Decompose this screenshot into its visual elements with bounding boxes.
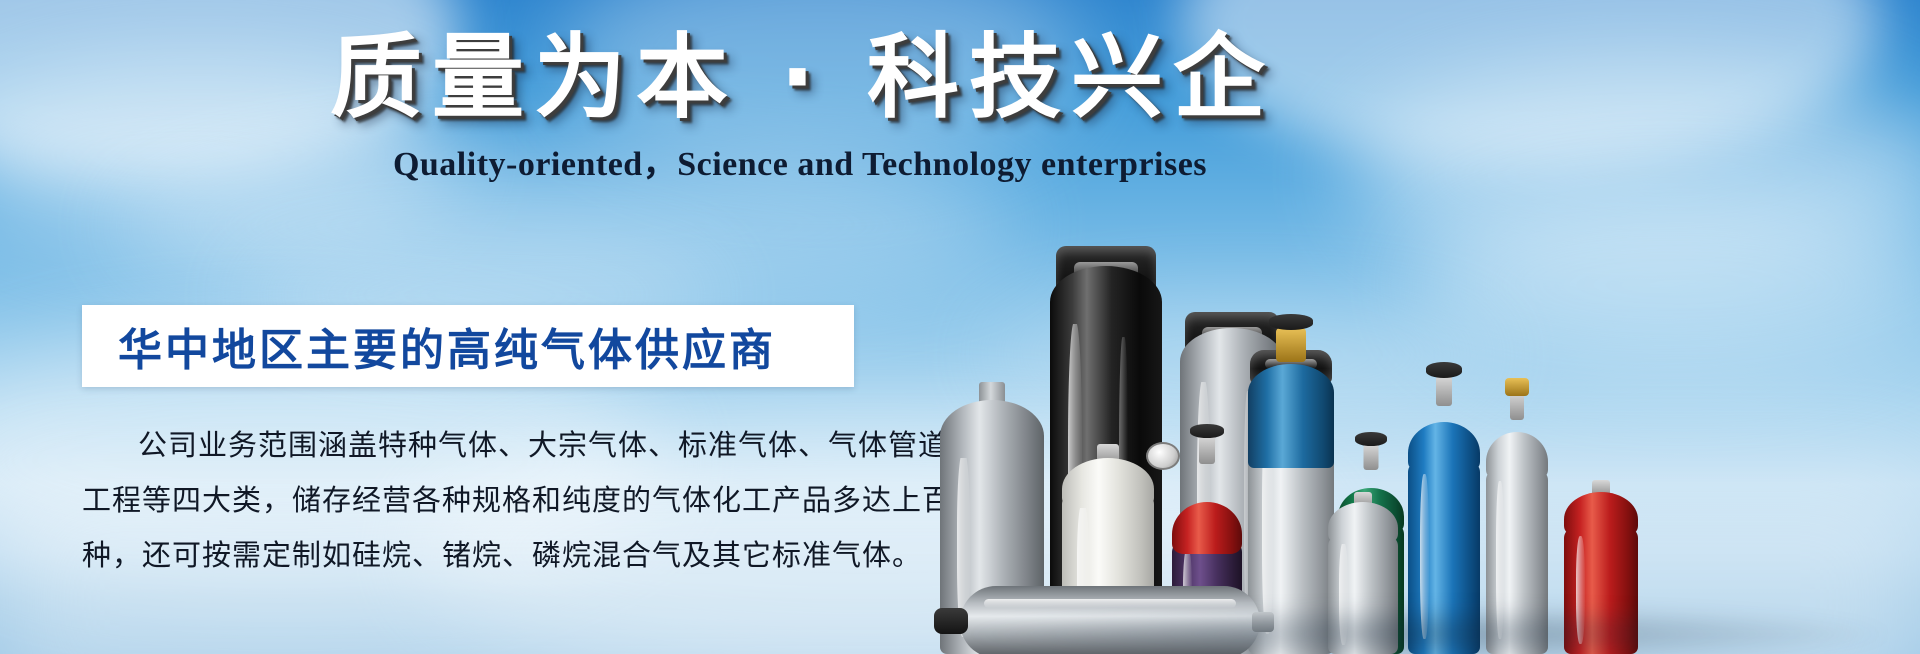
cylinder-shoulder	[1486, 432, 1548, 480]
pressure-gauge-icon	[1146, 442, 1180, 470]
cylinder-handwheel-icon	[1355, 432, 1387, 446]
paragraph-line-2: 工程等四大类，储存经营各种规格和纯度的气体化工产品多达上百	[82, 473, 872, 528]
cylinder-shoulder	[1172, 502, 1242, 554]
headline-chinese: 质量为本 · 科技兴企	[330, 22, 1270, 134]
cylinder-valve	[1436, 376, 1452, 406]
cylinder-shoulder	[1328, 502, 1398, 544]
callout-box: 华中地区主要的高纯气体供应商	[82, 305, 854, 387]
description-paragraph: 公司业务范围涵盖特种气体、大宗气体、标准气体、气体管道 工程等四大类，储存经营各…	[82, 418, 872, 583]
cylinder-shoulder	[1564, 492, 1638, 536]
cylinder-shoulder	[940, 400, 1044, 458]
gas-cylinder-group	[930, 150, 1920, 654]
cylinder-shoulder	[1408, 422, 1480, 472]
cylinder-handwheel-icon	[1190, 424, 1224, 438]
cylinder-brass-valve	[1505, 378, 1529, 396]
cylinder-valve	[1199, 436, 1215, 464]
cloud-shape	[1180, 0, 1880, 170]
paragraph-line-3: 种，还可按需定制如硅烷、锗烷、磷烷混合气及其它标准气体。	[82, 528, 872, 583]
promo-banner: 质量为本 · 科技兴企 Quality-oriented，Science and…	[0, 0, 1920, 654]
ground-shadow	[950, 604, 1900, 654]
cylinder-shoulder	[1062, 458, 1154, 508]
cylinder-valve	[1510, 392, 1524, 420]
cylinder-handwheel-icon	[1269, 314, 1313, 330]
callout-text: 华中地区主要的高纯气体供应商	[82, 314, 776, 378]
cylinder-handwheel-icon	[1426, 362, 1462, 378]
paragraph-line-1: 公司业务范围涵盖特种气体、大宗气体、标准气体、气体管道	[82, 418, 872, 473]
cylinder-valve	[1364, 444, 1379, 470]
cylinder-brass-valve	[1276, 328, 1306, 362]
